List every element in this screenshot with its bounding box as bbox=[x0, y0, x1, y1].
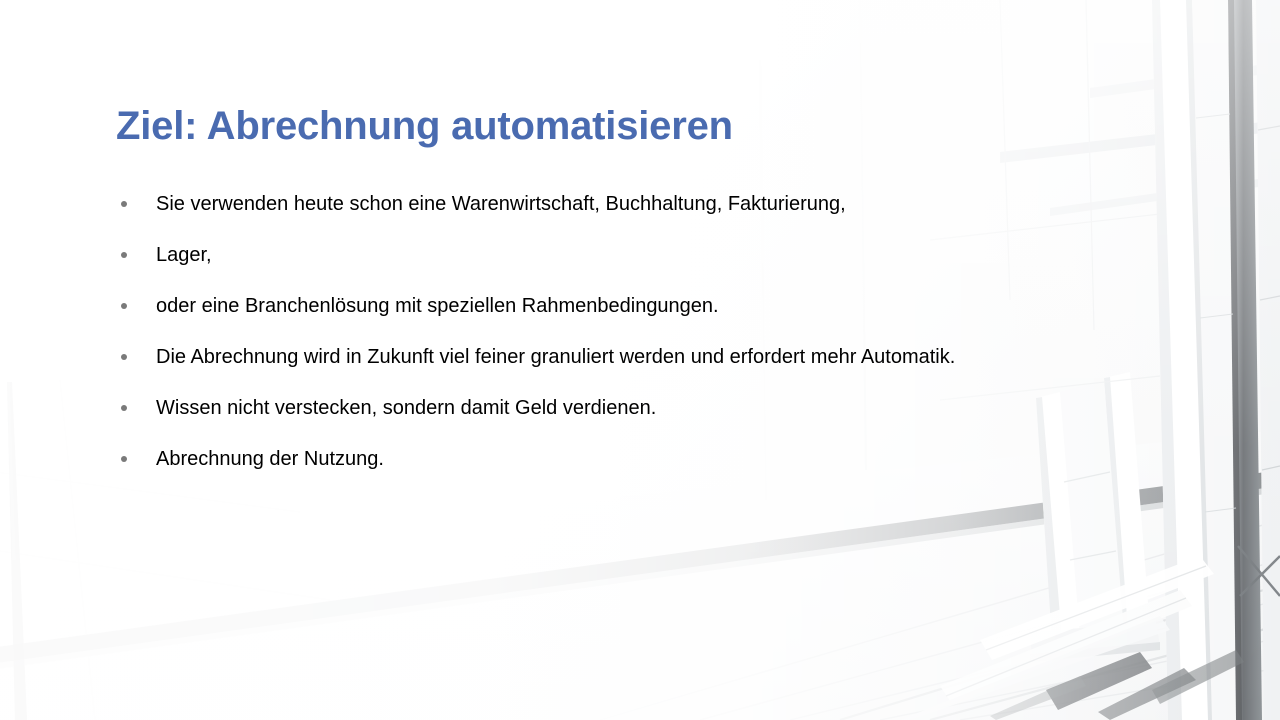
list-item-text: Wissen nicht verstecken, sondern damit G… bbox=[156, 396, 1018, 421]
bullet-marker-icon bbox=[121, 303, 127, 309]
list-item-text: Abrechnung der Nutzung. bbox=[156, 447, 1018, 472]
bullet-marker-icon bbox=[121, 456, 127, 462]
bullet-marker-icon bbox=[121, 252, 127, 258]
bullet-marker-icon bbox=[121, 354, 127, 360]
bullet-marker-icon bbox=[121, 405, 127, 411]
list-item-text: oder eine Branchenlösung mit speziellen … bbox=[156, 294, 1018, 319]
bullet-marker-icon bbox=[121, 201, 127, 207]
list-item: oder eine Branchenlösung mit speziellen … bbox=[118, 294, 1018, 319]
slide-canvas: Ziel: Abrechnung automatisieren Sie verw… bbox=[0, 0, 1280, 720]
list-item: Lager, bbox=[118, 243, 1018, 268]
list-item-text: Die Abrechnung wird in Zukunft viel fein… bbox=[156, 345, 1018, 370]
list-item: Wissen nicht verstecken, sondern damit G… bbox=[118, 396, 1018, 421]
list-item: Abrechnung der Nutzung. bbox=[118, 447, 1018, 472]
list-item: Die Abrechnung wird in Zukunft viel fein… bbox=[118, 345, 1018, 370]
slide-body-list: Sie verwenden heute schon eine Warenwirt… bbox=[118, 192, 1018, 472]
list-item: Sie verwenden heute schon eine Warenwirt… bbox=[118, 192, 1018, 217]
slide-title: Ziel: Abrechnung automatisieren bbox=[116, 103, 1116, 150]
list-item-text: Lager, bbox=[156, 243, 1018, 268]
list-item-text: Sie verwenden heute schon eine Warenwirt… bbox=[156, 192, 1018, 217]
